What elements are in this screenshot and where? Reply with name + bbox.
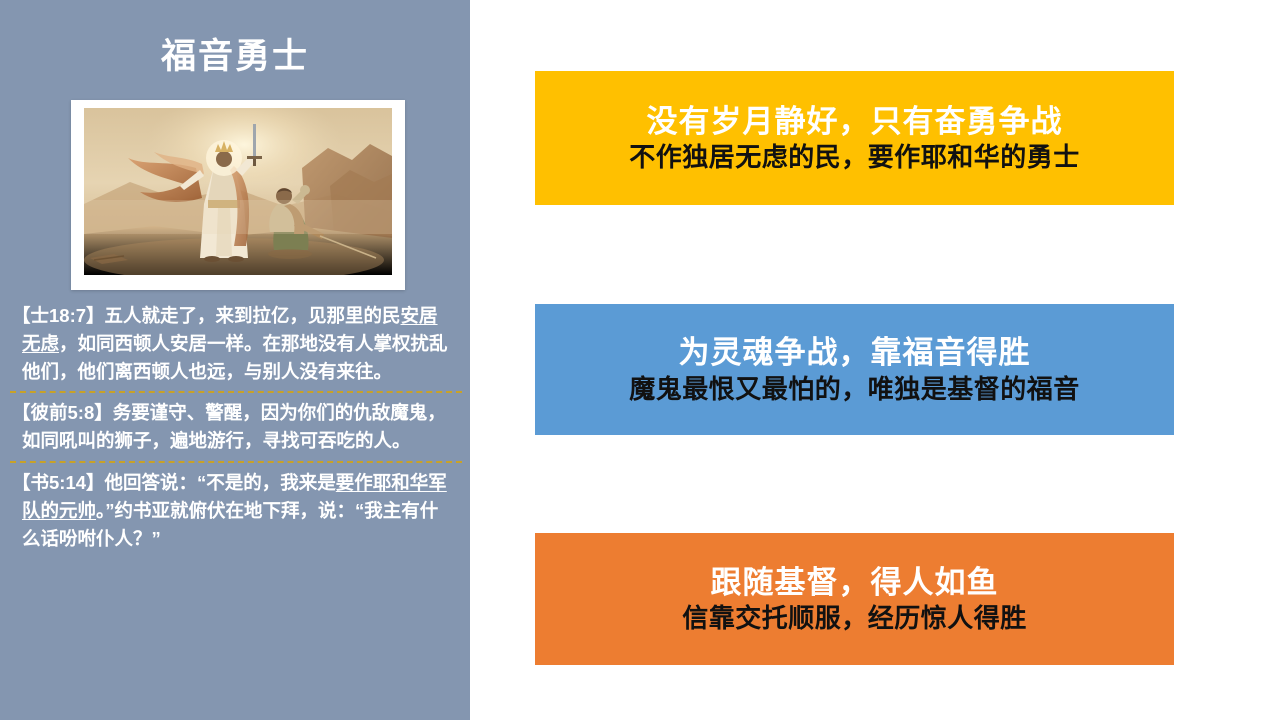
banner-2-heading: 为灵魂争战，靠福音得胜 bbox=[679, 334, 1031, 371]
page-title: 福音勇士 bbox=[0, 38, 470, 77]
banner-point-2: 为灵魂争战，靠福音得胜 魔鬼最恨又最怕的，唯独是基督的福音 bbox=[535, 304, 1174, 435]
scripture-divider bbox=[10, 391, 462, 393]
scripture-segment: 【士18:7】五人就走了，来到拉亿，见那里的民 bbox=[12, 305, 401, 326]
scripture-list: 【士18:7】五人就走了，来到拉亿，见那里的民安居无虑，如同西顿人安居一样。在那… bbox=[0, 302, 470, 553]
banner-1-heading: 没有岁月静好，只有奋勇争战 bbox=[647, 103, 1063, 140]
scripture-text-joshua: 【书5:14】他回答说：“不是的，我来是要作耶和华军队的元帅。”约书亚就俯伏在地… bbox=[12, 469, 452, 553]
banner-1-subtext: 不作独居无虑的民，要作耶和华的勇士 bbox=[629, 142, 1080, 173]
banner-2-subtext: 魔鬼最恨又最怕的，唯独是基督的福音 bbox=[629, 374, 1080, 405]
banner-point-1: 没有岁月静好，只有奋勇争战 不作独居无虑的民，要作耶和华的勇士 bbox=[535, 71, 1174, 205]
slide: 福音勇士 bbox=[0, 0, 1280, 720]
scripture-block-judges: 【士18:7】五人就走了，来到拉亿，见那里的民安居无虑，如同西顿人安居一样。在那… bbox=[0, 302, 470, 386]
banner-point-3: 跟随基督，得人如鱼 信靠交托顺服，经历惊人得胜 bbox=[535, 533, 1174, 665]
scripture-segment: ，如同西顿人安居一样。在那地没有人掌权扰乱他们，他们离西顿人也远，与别人没有来往… bbox=[22, 333, 448, 382]
scripture-text-judges: 【士18:7】五人就走了，来到拉亿，见那里的民安居无虑，如同西顿人安居一样。在那… bbox=[12, 302, 452, 386]
scripture-block-joshua: 【书5:14】他回答说：“不是的，我来是要作耶和华军队的元帅。”约书亚就俯伏在地… bbox=[0, 469, 470, 553]
illustration-artwork bbox=[84, 108, 392, 275]
scripture-divider bbox=[10, 461, 462, 463]
illustration-frame bbox=[71, 100, 405, 290]
banner-3-subtext: 信靠交托顺服，经历惊人得胜 bbox=[682, 603, 1027, 634]
scripture-text-1peter: 【彼前5:8】务要谨守、警醒，因为你们的仇敌魔鬼，如同吼叫的狮子，遍地游行，寻找… bbox=[12, 399, 452, 455]
scripture-block-1peter: 【彼前5:8】务要谨守、警醒，因为你们的仇敌魔鬼，如同吼叫的狮子，遍地游行，寻找… bbox=[0, 399, 470, 455]
illustration-commander-and-joshua bbox=[84, 108, 392, 275]
scripture-segment: 【书5:14】他回答说：“不是的，我来是 bbox=[12, 472, 336, 493]
scripture-segment: 【彼前5:8】务要谨守、警醒，因为你们的仇敌魔鬼，如同吼叫的狮子，遍地游行，寻找… bbox=[12, 402, 446, 451]
banner-3-heading: 跟随基督，得人如鱼 bbox=[711, 564, 999, 601]
sidebar-panel: 福音勇士 bbox=[0, 0, 470, 720]
